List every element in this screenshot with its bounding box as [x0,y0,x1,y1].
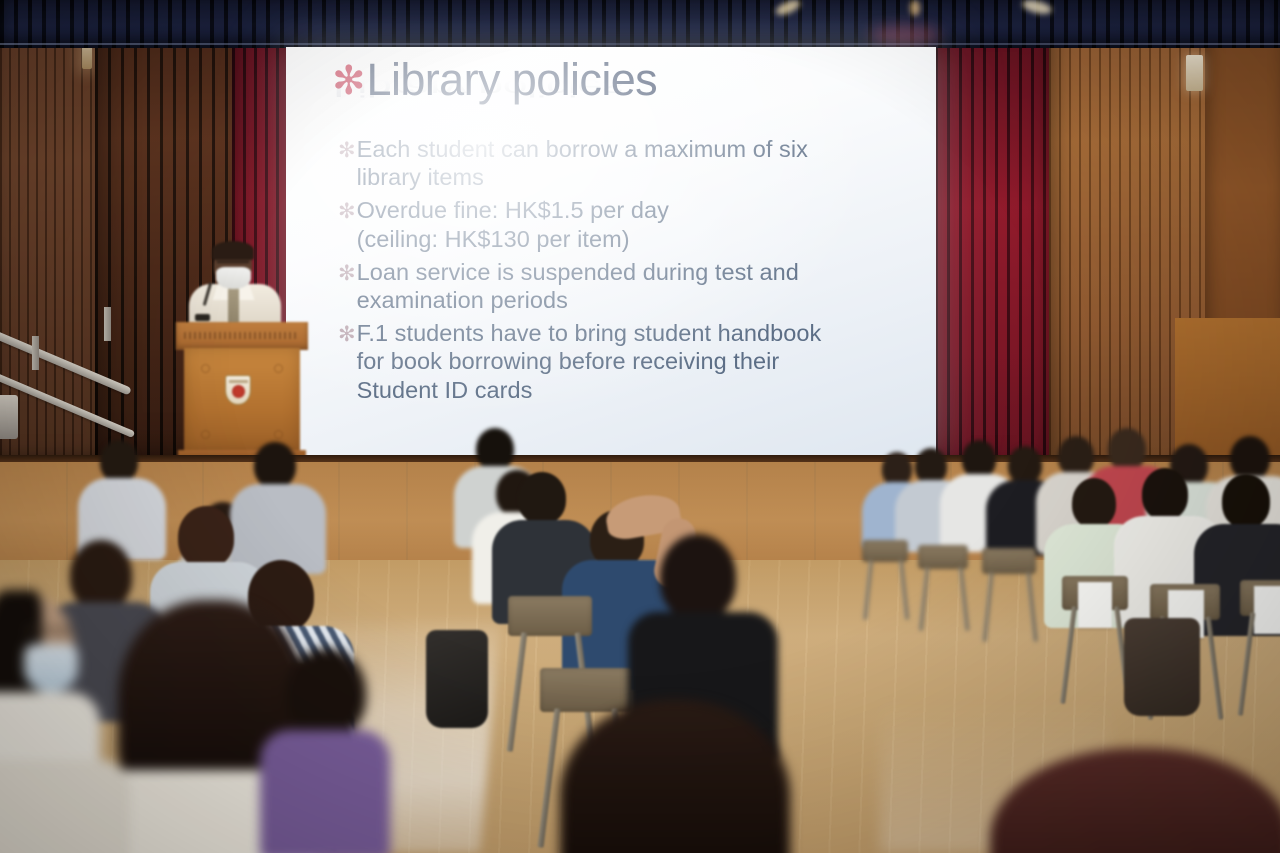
asterisk-bullet-icon: ✻ [338,263,356,284]
bullet-line: Overdue fine: HK$1.5 per day [357,197,669,223]
handrail-newel [0,395,18,439]
handrail-post [104,307,111,341]
asterisk-bullet-icon: ✻ [338,140,356,161]
stage-light-icon [910,0,920,16]
list-item: ✻ Loan service is suspended during test … [338,258,918,314]
stage-light-glow [870,26,940,44]
red-curtain-right [935,16,1053,471]
bullet-line: Each student can borrow a maximum of six [357,136,808,162]
list-item: ✻ F.1 students have to bring student han… [338,319,918,404]
assembly-hall-photo: ✻ Library policies Library policies ✻ Ea… [0,0,1280,853]
podium-corner-ornament [274,364,283,373]
slide-title: Library policies [367,57,658,103]
crest-chief [229,380,248,383]
bullet-text: Loan service is suspended during test an… [357,258,799,314]
asterisk-bullet-icon: ✻ [332,61,366,101]
podium-corner-ornament [201,364,210,373]
podium-corner-ornament [274,430,283,439]
speaker-at-podium [168,238,318,460]
projection-screen: ✻ Library policies Library policies ✻ Ea… [286,47,936,455]
bullet-line: F.1 students have to bring student handb… [357,320,822,346]
face-mask-icon [216,267,251,289]
podium-engraved-text [184,332,296,339]
wall-sconce-icon [1186,55,1203,91]
school-crest-icon [225,375,251,405]
bullet-line: Student ID cards [357,377,533,403]
slide-title-reflection: Library policies [333,73,624,102]
face-mask-icon [24,644,78,692]
list-item: ✻ Overdue fine: HK$1.5 per day (ceiling:… [338,196,918,252]
handrail-post [32,336,39,370]
list-item: ✻ Each student can borrow a maximum of s… [338,135,918,191]
glasses-icon [26,626,72,636]
podium-device [195,314,210,321]
crest-emblem [232,385,245,398]
slide-title-row: ✻ Library policies [332,57,657,103]
stage-valance-curtain [0,0,1280,48]
bullet-text: F.1 students have to bring student handb… [357,319,822,404]
bullet-line: Loan service is suspended during test an… [357,259,799,285]
backpack [426,630,488,728]
bullet-line: (ceiling: HK$130 per item) [357,226,630,252]
bullet-text: Each student can borrow a maximum of six… [357,135,808,191]
bullet-text: Overdue fine: HK$1.5 per day (ceiling: H… [357,196,669,252]
valance-hem [0,43,1280,45]
necktie [228,288,239,326]
seat-reserved-sign [1078,582,1112,628]
asterisk-bullet-icon: ✻ [338,201,356,222]
bullet-line: library items [357,164,484,190]
podium-corner-ornament [201,430,210,439]
speaker-hair [212,241,254,260]
seat-reserved-sign [1254,586,1280,634]
bullet-line: for book borrowing before receiving thei… [357,348,780,374]
asterisk-bullet-icon: ✻ [338,324,356,345]
bullet-line: examination periods [357,287,568,313]
handbag [1124,618,1200,716]
slide-bullet-list: ✻ Each student can borrow a maximum of s… [338,135,918,409]
